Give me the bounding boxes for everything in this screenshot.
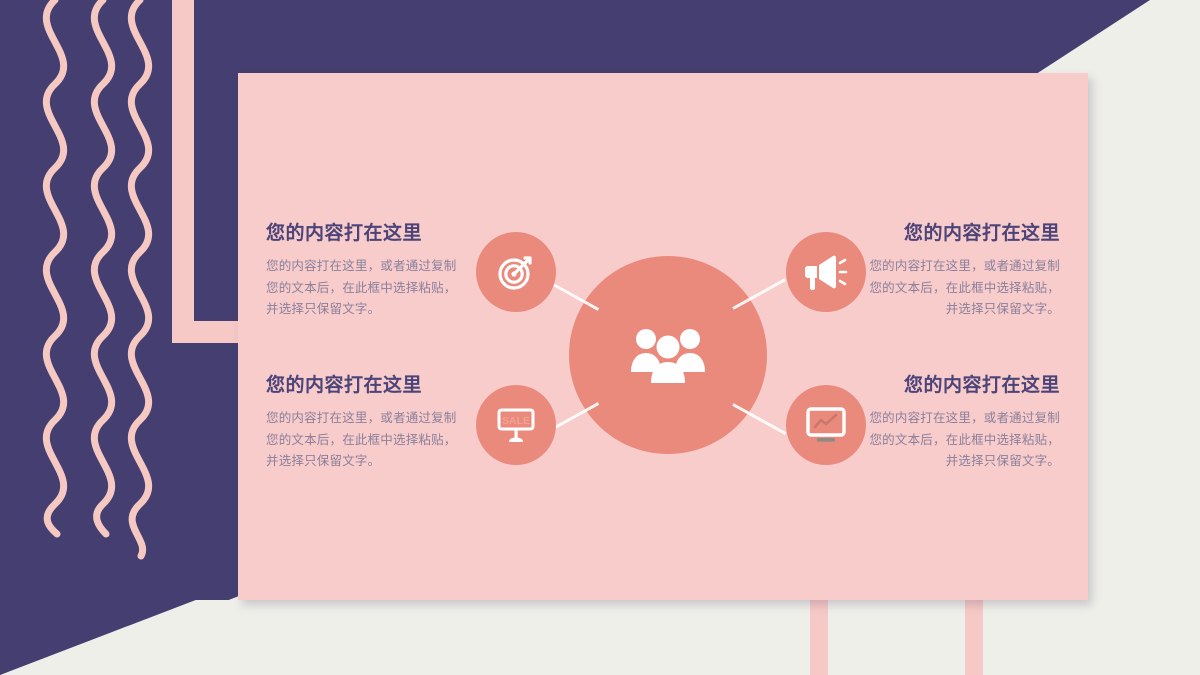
text-block-bottom-right: 您的内容打在这里 您的内容打在这里，或者通过复制您的文本后，在此框中选择粘贴，并… — [860, 373, 1060, 473]
sale-sign-icon: SALE — [494, 403, 538, 447]
hub-circle[interactable] — [569, 256, 767, 454]
users-group-icon — [629, 325, 707, 385]
pink-leg-left — [810, 598, 828, 675]
text-block-top-right: 您的内容打在这里 您的内容打在这里，或者通过复制您的文本后，在此框中选择粘贴，并… — [860, 221, 1060, 321]
node-circle-top-left[interactable] — [476, 232, 556, 312]
text-block-title: 您的内容打在这里 — [266, 221, 466, 247]
text-block-title: 您的内容打在这里 — [860, 373, 1060, 399]
text-block-bottom-left: 您的内容打在这里 您的内容打在这里，或者通过复制您的文本后，在此框中选择粘贴，并… — [266, 373, 466, 473]
node-circle-bottom-left[interactable]: SALE — [476, 385, 556, 465]
text-block-title: 您的内容打在这里 — [860, 221, 1060, 247]
text-block-body: 您的内容打在这里，或者通过复制您的文本后，在此框中选择粘贴，并选择只保留文字。 — [266, 256, 466, 322]
text-block-body: 您的内容打在这里，或者通过复制您的文本后，在此框中选择粘贴，并选择只保留文字。 — [860, 408, 1060, 474]
text-block-title: 您的内容打在这里 — [266, 373, 466, 399]
text-block-top-left: 您的内容打在这里 您的内容打在这里，或者通过复制您的文本后，在此框中选择粘贴，并… — [266, 221, 466, 321]
target-arrow-icon — [495, 251, 537, 293]
hub-and-spoke-diagram: SALE — [238, 73, 1088, 600]
text-block-body: 您的内容打在这里，或者通过复制您的文本后，在此框中选择粘贴，并选择只保留文字。 — [860, 256, 1060, 322]
megaphone-icon — [804, 252, 848, 292]
node-circle-bottom-right[interactable] — [786, 385, 866, 465]
monitor-chart-icon — [804, 405, 848, 445]
slide-canvas: SALE 您的内容打在这里 您的内 — [0, 0, 1200, 675]
content-card: SALE 您的内容打在这里 您的内 — [238, 73, 1088, 600]
pink-leg-right — [965, 598, 983, 675]
text-block-body: 您的内容打在这里，或者通过复制您的文本后，在此框中选择粘贴，并选择只保留文字。 — [266, 408, 466, 474]
sale-sign-text: SALE — [502, 415, 530, 427]
pink-frame-vertical-bar — [172, 0, 194, 343]
node-circle-top-right[interactable] — [786, 232, 866, 312]
